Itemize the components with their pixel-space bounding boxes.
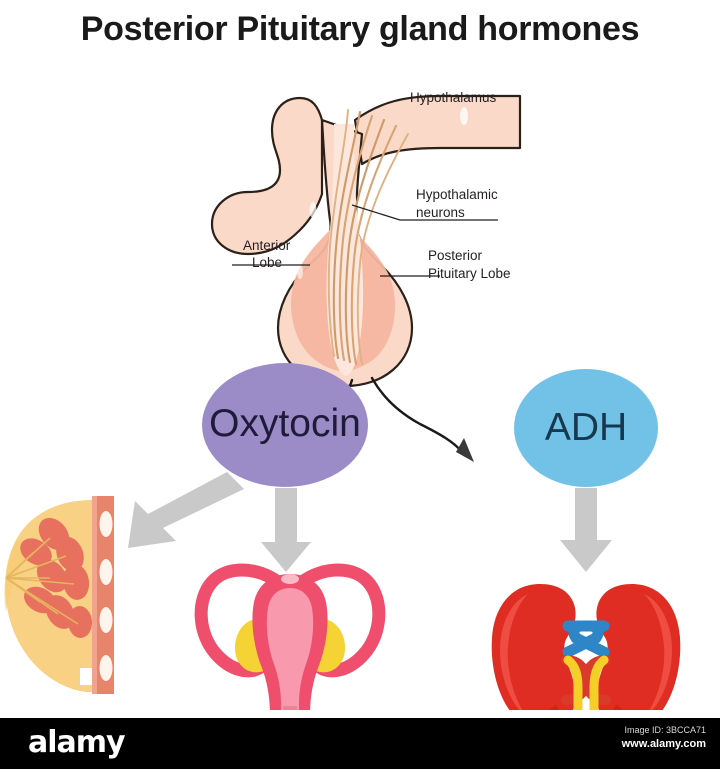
uterus-illustration — [201, 570, 379, 710]
gray-arrow-to-breast — [128, 472, 244, 548]
label-posterior-lobe-line1: Posterior — [428, 248, 483, 263]
uterus-fundus-highlight — [281, 574, 299, 584]
page-title: Posterior Pituitary gland hormones — [0, 10, 720, 49]
gray-arrow-to-kidneys — [560, 488, 612, 572]
chest-wall-inner-line — [92, 496, 97, 694]
alamy-url-text: www.alamy.com — [622, 737, 706, 752]
tissue-highlight-3 — [297, 265, 303, 279]
pituitary-hormone-diagram: Hypothalamus Hypothalamic neurons Anteri… — [0, 60, 720, 710]
watermark-meta: Image ID: 3BCCA71 www.alamy.com — [622, 724, 706, 752]
tissue-highlight-1 — [460, 107, 468, 125]
adh-label: ADH — [545, 406, 627, 449]
hormone-oxytocin-node[interactable]: Oxytocin — [202, 363, 368, 487]
label-hypothalamus: Hypothalamus — [410, 90, 497, 105]
arrow-to-adh-curve — [372, 378, 462, 452]
label-hypothalamic-neurons-line1: Hypothalamic — [416, 187, 498, 202]
image-id-text: Image ID: 3BCCA71 — [622, 724, 706, 737]
label-hypothalamic-neurons-line2: neurons — [416, 205, 465, 220]
oxytocin-label: Oxytocin — [209, 402, 361, 445]
label-anterior-lobe-line2: Lobe — [252, 255, 282, 270]
hormone-adh-node[interactable]: ADH — [514, 369, 658, 487]
kidneys-illustration — [492, 584, 681, 710]
gray-block-arrows — [128, 472, 612, 572]
tissue-highlight-2 — [310, 202, 317, 218]
breast-illustration — [4, 496, 114, 694]
uterus-cervix-shape — [283, 706, 297, 710]
hypothalamus-left-lobe-shape — [212, 98, 322, 254]
gray-arrow-to-uterus — [261, 488, 311, 572]
alamy-logo: alamy — [28, 727, 125, 759]
label-posterior-lobe-line2: Pituitary Lobe — [428, 266, 511, 281]
arrow-to-adh-head — [456, 438, 474, 462]
label-anterior-lobe-line1: Anterior — [243, 238, 291, 253]
diagram-canvas: Posterior Pituitary gland hormones — [0, 0, 720, 769]
